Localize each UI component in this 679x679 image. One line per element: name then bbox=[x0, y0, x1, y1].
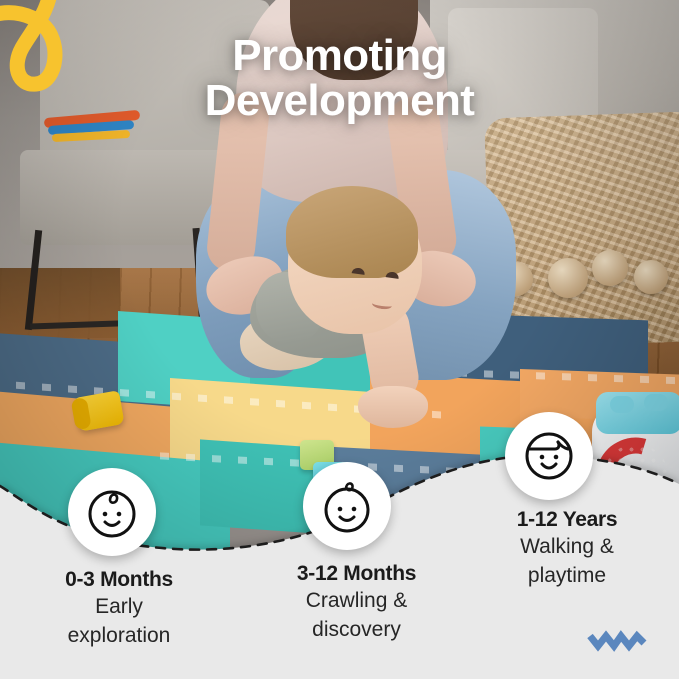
child-face-bangs-icon bbox=[517, 424, 581, 488]
baby-face-sprout-icon bbox=[315, 474, 379, 538]
pompom-trim bbox=[548, 258, 588, 298]
stage-title: 3-12 Months bbox=[254, 562, 459, 586]
stage-text-1-12-years: 1-12 Years Walking & playtime bbox=[472, 508, 662, 590]
stage-desc-line-1: Early bbox=[14, 594, 224, 621]
stage-text-0-3-months: 0-3 Months Early exploration bbox=[14, 568, 224, 650]
baby-hand bbox=[358, 386, 428, 428]
activity-toy-knob bbox=[610, 396, 634, 413]
yellow-swirl-logo-icon bbox=[0, 0, 88, 92]
pompom-trim bbox=[592, 250, 628, 286]
stage-marker-1-12-years[interactable] bbox=[505, 412, 593, 500]
stage-desc-line-2: discovery bbox=[254, 617, 459, 644]
baby-hair bbox=[286, 186, 418, 278]
stage-desc-line-1: Crawling & bbox=[254, 588, 459, 615]
title-line-2: Development bbox=[0, 79, 679, 124]
blue-zigzag-wave-logo-icon bbox=[586, 628, 648, 654]
stage-desc-line-1: Walking & bbox=[472, 534, 662, 561]
stage-title: 0-3 Months bbox=[14, 568, 224, 592]
stage-title: 1-12 Years bbox=[472, 508, 662, 532]
page-title: Promoting Development bbox=[0, 34, 679, 124]
pompom-trim bbox=[634, 260, 668, 294]
stage-desc-line-2: exploration bbox=[14, 623, 224, 650]
product-infographic: Promoting Development bbox=[0, 0, 679, 679]
stage-desc-line-2: playtime bbox=[472, 563, 662, 590]
stage-marker-3-12-months[interactable] bbox=[303, 462, 391, 550]
baby-face-curl-icon bbox=[80, 480, 144, 544]
activity-toy-knob bbox=[644, 394, 668, 411]
knitted-throw-blanket bbox=[484, 112, 679, 349]
stage-text-3-12-months: 3-12 Months Crawling & discovery bbox=[254, 562, 459, 644]
title-line-1: Promoting bbox=[232, 31, 447, 80]
activity-toy-dots bbox=[604, 444, 668, 506]
stage-marker-0-3-months[interactable] bbox=[68, 468, 156, 556]
